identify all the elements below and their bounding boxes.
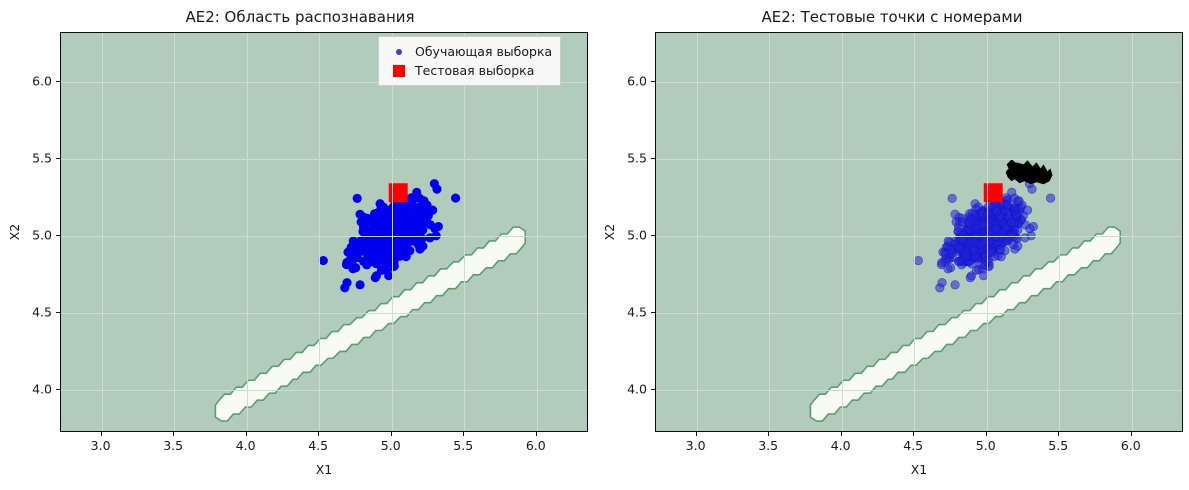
ytick-mark: [651, 312, 655, 313]
ytick-label: 6.0: [609, 74, 647, 89]
gridline-vertical: [464, 33, 465, 431]
xtick-mark: [246, 432, 247, 436]
xtick-mark: [913, 432, 914, 436]
panel-left-ylabel: X2: [7, 224, 22, 241]
xtick-mark: [536, 432, 537, 436]
gridline-horizontal: [61, 313, 587, 314]
legend-entry-test: Тестовая выборка: [386, 61, 552, 80]
gridline-vertical: [102, 33, 103, 431]
gridline-horizontal: [61, 390, 587, 391]
legend-marker-circle-icon: [386, 49, 412, 55]
gridline-horizontal: [656, 313, 1182, 314]
legend-label-test: Тестовая выборка: [412, 63, 534, 78]
xtick-label: 3.0: [686, 438, 706, 453]
xtick-label: 4.0: [236, 438, 256, 453]
gridline-horizontal: [656, 390, 1182, 391]
gridline-vertical: [537, 33, 538, 431]
panel-right-axes: [655, 32, 1183, 432]
xtick-label: 4.5: [903, 438, 923, 453]
xtick-label: 6.0: [1121, 438, 1141, 453]
ytick-label: 5.5: [609, 151, 647, 166]
panel-left: AE2: Область распознавания 3.03.54.04.55…: [0, 0, 600, 490]
xtick-label: 4.5: [308, 438, 328, 453]
xtick-mark: [1131, 432, 1132, 436]
xtick-label: 5.5: [1048, 438, 1068, 453]
xtick-label: 5.0: [976, 438, 996, 453]
gridline-horizontal: [656, 82, 1182, 83]
xtick-label: 5.0: [381, 438, 401, 453]
gridline-vertical: [769, 33, 770, 431]
panel-left-axes: [60, 32, 588, 432]
xtick-label: 3.5: [758, 438, 778, 453]
ytick-mark: [56, 389, 60, 390]
ytick-mark: [651, 235, 655, 236]
xtick-mark: [768, 432, 769, 436]
test-point-left: [61, 33, 587, 431]
gridline-vertical: [1059, 33, 1060, 431]
xtick-mark: [101, 432, 102, 436]
xtick-label: 3.0: [91, 438, 111, 453]
ytick-mark: [56, 235, 60, 236]
gridline-vertical: [987, 33, 988, 431]
ytick-mark: [651, 81, 655, 82]
xtick-label: 3.5: [163, 438, 183, 453]
legend-entry-train: Обучающая выборка: [386, 42, 552, 61]
panel-right-ylabel: X2: [602, 224, 617, 241]
panel-right: AE2: Тестовые точки с номерами 3.03.54.0…: [595, 0, 1189, 490]
panel-right-xlabel: X1: [655, 462, 1183, 477]
panel-right-title: AE2: Тестовые точки с номерами: [595, 8, 1189, 26]
gridline-vertical: [247, 33, 248, 431]
matplotlib-figure: AE2: Область распознавания 3.03.54.04.55…: [0, 0, 1189, 490]
xtick-label: 4.0: [831, 438, 851, 453]
gridline-vertical: [319, 33, 320, 431]
legend-left[interactable]: Обучающая выборка Тестовая выборка: [378, 36, 561, 86]
test-point-number-labels: [656, 33, 1182, 431]
xtick-mark: [391, 432, 392, 436]
xtick-mark: [173, 432, 174, 436]
ytick-label: 5.5: [14, 151, 52, 166]
legend-marker-square-icon: [386, 65, 412, 77]
xtick-label: 6.0: [526, 438, 546, 453]
gridline-vertical: [174, 33, 175, 431]
gridline-vertical: [697, 33, 698, 431]
xtick-mark: [841, 432, 842, 436]
panel-left-xlabel: X1: [60, 462, 588, 477]
panel-left-title: AE2: Область распознавания: [0, 8, 600, 26]
ytick-label: 4.5: [609, 305, 647, 320]
xtick-mark: [318, 432, 319, 436]
gridline-horizontal: [656, 236, 1182, 237]
ytick-mark: [56, 81, 60, 82]
xtick-mark: [463, 432, 464, 436]
gridline-horizontal: [61, 159, 587, 160]
ytick-label: 4.5: [14, 305, 52, 320]
xtick-mark: [696, 432, 697, 436]
ytick-label: 6.0: [14, 74, 52, 89]
ytick-mark: [651, 389, 655, 390]
gridline-vertical: [392, 33, 393, 431]
ytick-label: 4.0: [609, 381, 647, 396]
gridline-horizontal: [61, 236, 587, 237]
xtick-mark: [1058, 432, 1059, 436]
xtick-label: 5.5: [453, 438, 473, 453]
ytick-label: 4.0: [14, 381, 52, 396]
gridline-vertical: [1132, 33, 1133, 431]
xtick-mark: [986, 432, 987, 436]
legend-label-train: Обучающая выборка: [412, 44, 552, 59]
ytick-mark: [651, 158, 655, 159]
gridline-vertical: [842, 33, 843, 431]
ytick-mark: [56, 312, 60, 313]
ytick-mark: [56, 158, 60, 159]
gridline-vertical: [914, 33, 915, 431]
gridline-horizontal: [656, 159, 1182, 160]
